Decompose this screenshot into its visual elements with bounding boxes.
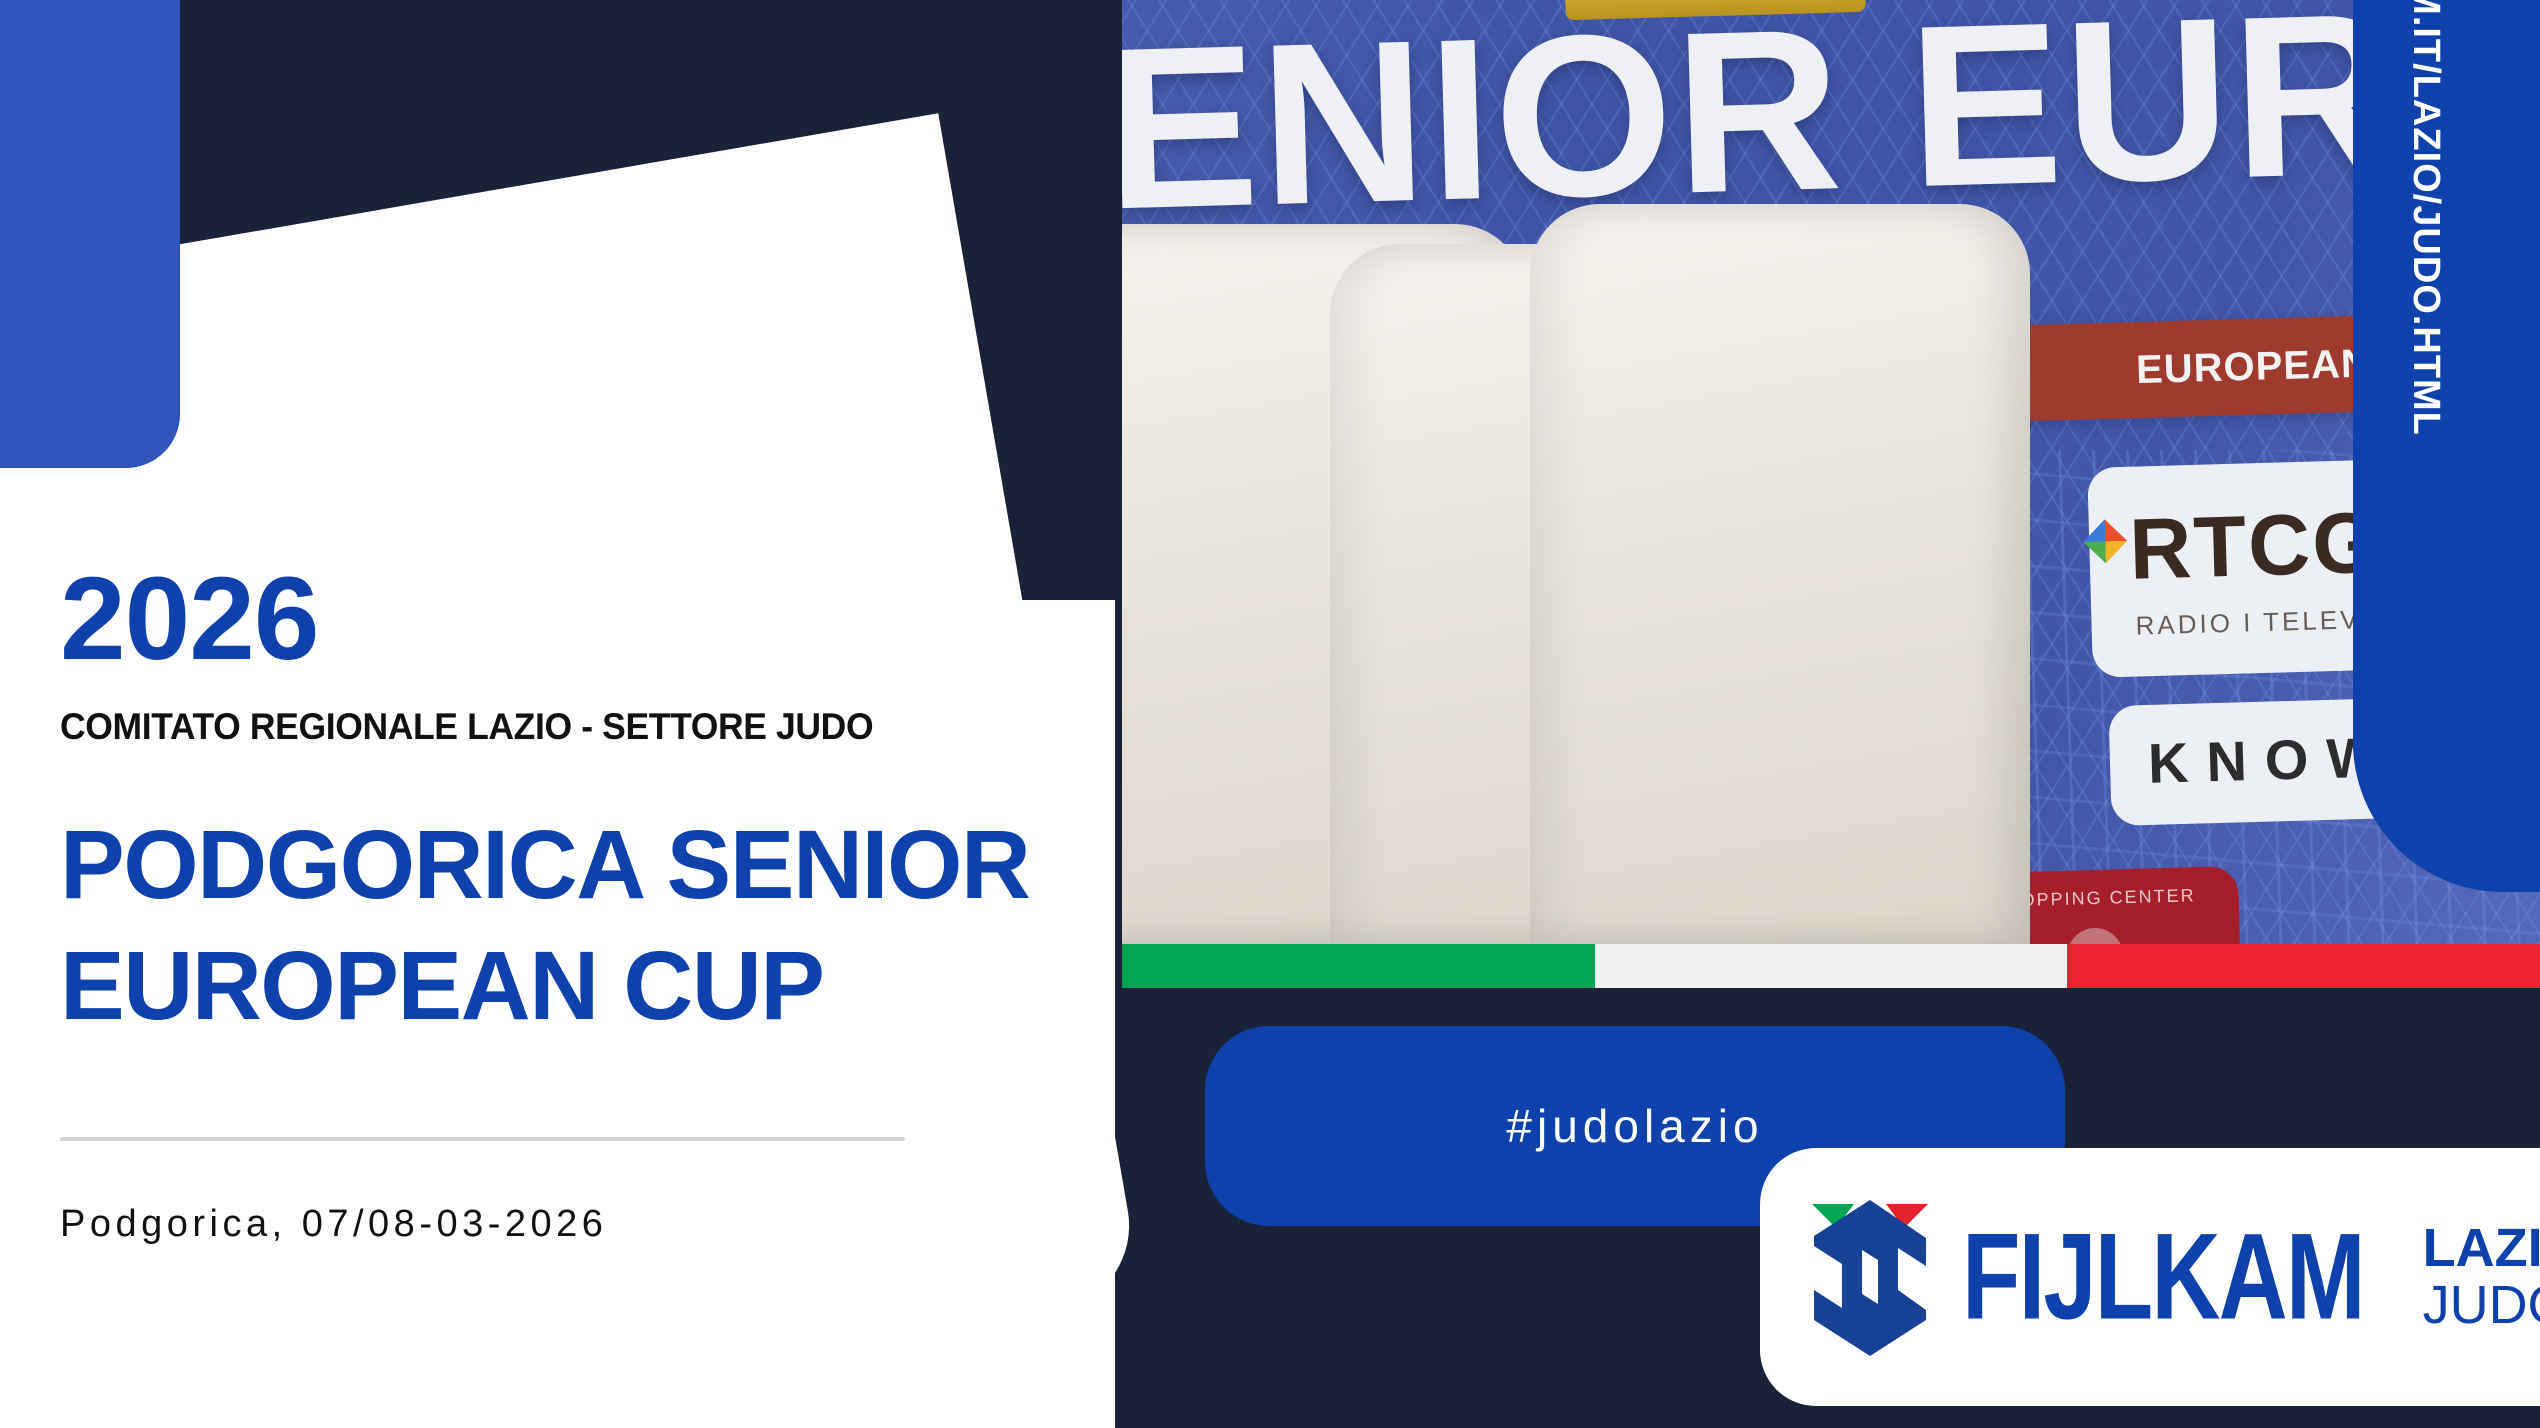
athletes-group	[1122, 0, 2540, 944]
poster-canvas: GORICA SENIOR EUROPE EUROPEAN JUDO UNION…	[0, 0, 2540, 1428]
athlete-4-judogi	[1530, 204, 2030, 944]
event-title-line-1: PODGORICA SENIOR	[60, 804, 1080, 925]
section-divider	[60, 1137, 905, 1141]
fijlkam-emblem-icon	[1806, 1194, 1934, 1360]
website-url-text[interactable]: WWW.FIJLKAM.IT/LAZIO/JUDO.HTML	[2404, 0, 2447, 436]
place-and-date: Podgorica, 07/08-03-2026	[60, 1203, 1080, 1246]
fijlkam-region: LAZIO	[2423, 1220, 2540, 1277]
blue-corner-tab	[0, 0, 180, 468]
poster-text-block: 2026 COMITATO REGIONALE LAZIO - SETTORE …	[60, 560, 1080, 1246]
flag-stripe-white	[1595, 944, 2068, 988]
fijlkam-wordmark: FIJLKAM	[1962, 1216, 2364, 1339]
hashtag-text: #judolazio	[1205, 1099, 2065, 1153]
podium-photo: GORICA SENIOR EUROPE EUROPEAN JUDO UNION…	[1122, 0, 2540, 944]
flag-stripe-green	[1122, 944, 1595, 988]
event-title: PODGORICA SENIOR EUROPEAN CUP	[60, 804, 1080, 1047]
website-sidebar: WWW.FIJLKAM.IT/LAZIO/JUDO.HTML	[2353, 0, 2540, 892]
fijlkam-logo-card[interactable]: FIJLKAM LAZIO JUDO	[1760, 1148, 2540, 1406]
year-heading: 2026	[60, 560, 1080, 678]
event-title-line-2: EUROPEAN CUP	[60, 925, 1080, 1046]
italian-flag-stripe	[1122, 944, 2540, 988]
flag-stripe-red	[2067, 944, 2540, 988]
fijlkam-discipline: JUDO	[2423, 1277, 2540, 1334]
fijlkam-region-block: LAZIO JUDO	[2423, 1220, 2540, 1334]
organization-label: COMITATO REGIONALE LAZIO - SETTORE JUDO	[60, 706, 1039, 748]
